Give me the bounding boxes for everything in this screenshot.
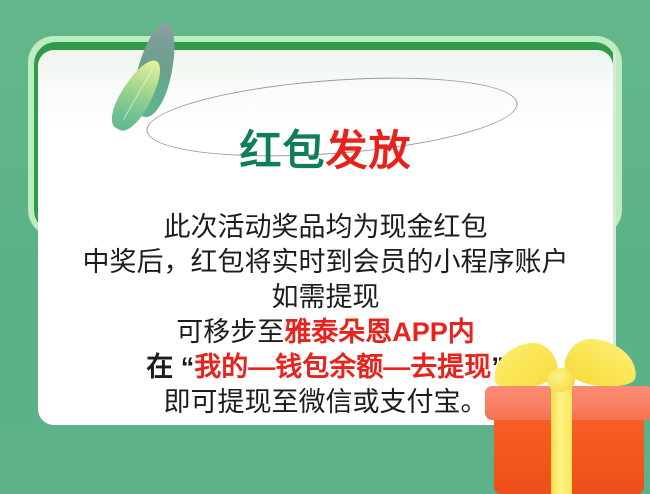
body-line-5-highlight: 我的—钱包余额—去提现 — [194, 352, 491, 382]
page-title-red: 发放 — [326, 127, 412, 174]
body-line-4-highlight: 雅泰朵恩APP内 — [284, 317, 475, 347]
body-line-2: 中奖后，红包将实时到会员的小程序账户 — [38, 245, 613, 280]
gift-ribbon — [551, 384, 572, 494]
promo-poster: 红包发放 此次活动奖品均为现金红包 中奖后，红包将实时到会员的小程序账户 如需提… — [0, 0, 650, 494]
body-line-3: 如需提现 — [38, 280, 613, 315]
body-line-1: 此次活动奖品均为现金红包 — [38, 210, 613, 245]
body-line-5-open-quote: 在 “ — [146, 352, 194, 382]
gift-bow-knot — [547, 368, 575, 392]
page-title-green: 红包 — [239, 127, 325, 174]
page-title: 红包发放 — [38, 130, 613, 172]
body-line-4-prefix: 可移步至 — [176, 317, 284, 347]
gift-box-icon — [485, 338, 650, 494]
